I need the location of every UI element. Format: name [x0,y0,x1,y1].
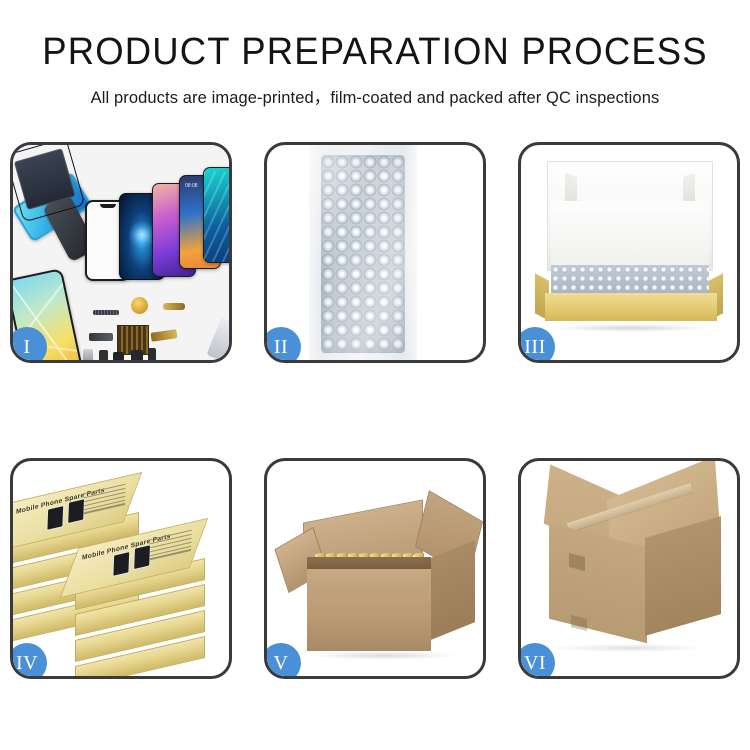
retail-box-stack-icon: Mobile Phone Spare Parts Mobile Phone Sp… [13,461,229,676]
retail-box-phone-image [112,551,130,577]
mailer-bubble-contents-icon [551,265,709,295]
process-step-panel-5[interactable]: V [264,458,486,679]
step-3-illustration [521,145,737,360]
sealed-carton-side-face [645,516,721,636]
retail-box-spec-lines [149,530,192,563]
process-step-panel-3[interactable]: III [518,142,740,363]
part-chip-small-icon [99,350,108,360]
mailer-box-shadow [551,324,711,332]
sealed-carton-shadow [555,644,705,652]
part-chip-wide-icon [113,352,124,360]
mailer-box-front-panel [545,293,717,321]
page-header: PRODUCT PREPARATION PROCESS All products… [0,0,750,108]
page-title: PRODUCT PREPARATION PROCESS [15,33,735,71]
step-badge-5: V [264,643,301,679]
retail-box-spec-lines [83,484,126,517]
process-step-panel-4[interactable]: Mobile Phone Spare Parts Mobile Phone Sp… [10,458,232,679]
step-badge-1: I [10,327,47,363]
step-2-illustration [267,145,483,360]
page-subtitle: All products are image-printed，film-coat… [0,84,750,108]
step-6-illustration [521,461,737,676]
step-badge-2: II [264,327,301,363]
retail-box-phone-image [46,505,64,531]
bubble-wrap-sheet-icon [309,145,417,360]
step-badge-4: IV [10,643,47,679]
mailer-box-interior [551,201,709,273]
process-step-panel-6[interactable]: VI [518,458,740,679]
part-flex-cable-icon [163,303,185,310]
part-chip-tall-icon [148,348,156,360]
part-sim-tray-icon [83,349,93,360]
process-step-panel-1[interactable]: 08:08 I [10,142,232,363]
step-5-illustration [267,461,483,676]
process-step-panel-2[interactable]: II [264,142,486,363]
step-badge-6: VI [518,643,555,679]
step-4-illustration: Mobile Phone Spare Parts Mobile Phone Sp… [13,461,229,676]
step-1-illustration: 08:08 [13,145,229,360]
step-badge-3: III [518,327,555,363]
process-step-grid: 08:08 I II [10,142,740,679]
carton-shadow [309,651,459,660]
phone-teal-stripes-icon [203,167,229,263]
bubble-wrap-sheen [309,145,417,360]
part-flex-ribbon-icon [89,333,113,341]
phone-clock-text: 08:08 [185,183,198,189]
part-connector-strip-icon [93,310,119,315]
carton-right-face [431,540,475,640]
part-chip-square-icon [131,350,143,360]
carton-front-face [307,569,431,651]
part-gold-coil-icon [131,297,148,314]
